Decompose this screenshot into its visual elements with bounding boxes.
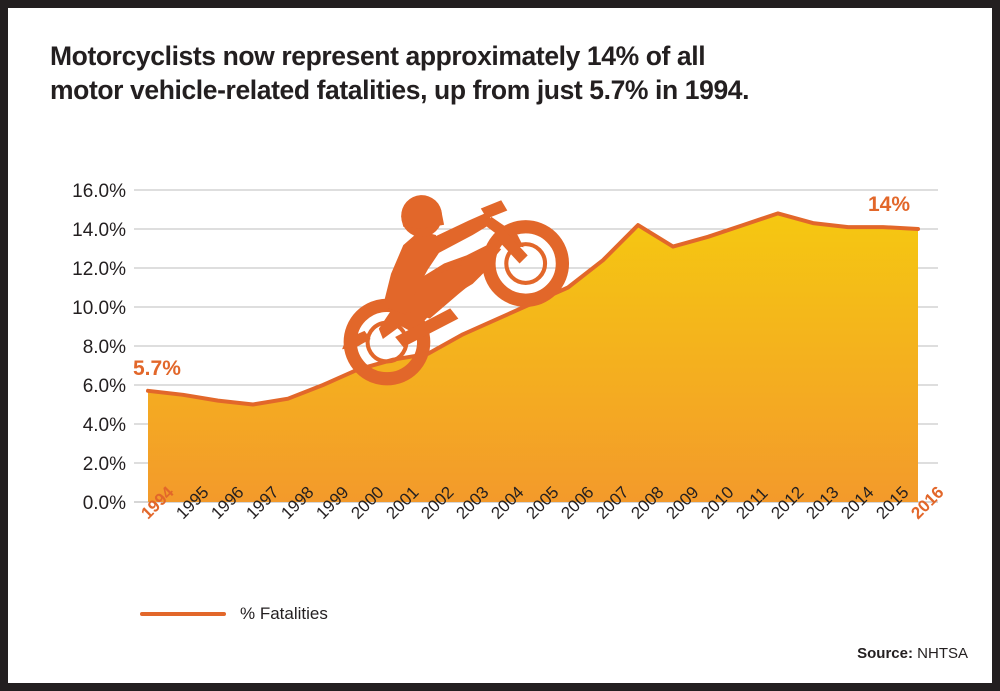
legend-line-swatch — [140, 612, 226, 616]
y-axis-labels: 0.0%2.0%4.0%6.0%8.0%10.0%12.0%14.0%16.0% — [72, 181, 126, 514]
y-axis-tick-label: 8.0% — [83, 337, 126, 358]
area-chart: 0.0%2.0%4.0%6.0%8.0%10.0%12.0%14.0%16.0%… — [8, 158, 992, 528]
source-prefix: Source: — [857, 645, 913, 662]
y-axis-tick-label: 14.0% — [72, 220, 126, 241]
y-axis-tick-label: 4.0% — [83, 415, 126, 436]
y-axis-tick-label: 12.0% — [72, 259, 126, 280]
source-name: NHTSA — [917, 645, 968, 662]
area-fill — [148, 213, 918, 502]
y-axis-tick-label: 0.0% — [83, 493, 126, 514]
source-note: Source: NHTSA — [857, 645, 968, 662]
legend-label: % Fatalities — [240, 604, 328, 624]
y-axis-tick-label: 6.0% — [83, 376, 126, 397]
y-axis-tick-label: 2.0% — [83, 454, 126, 475]
y-axis-tick-label: 10.0% — [72, 298, 126, 319]
page-title: Motorcyclists now represent approximatel… — [50, 40, 950, 108]
title-line-2: motor vehicle-related fatalities, up fro… — [50, 74, 950, 108]
y-axis-tick-label: 16.0% — [72, 181, 126, 202]
chart-legend: % Fatalities — [140, 604, 328, 624]
chart-svg: 0.0%2.0%4.0%6.0%8.0%10.0%12.0%14.0%16.0%… — [8, 158, 992, 528]
end-value-label: 14% — [868, 193, 910, 216]
start-value-label: 5.7% — [133, 357, 181, 380]
title-line-1: Motorcyclists now represent approximatel… — [50, 40, 950, 74]
chart-card: Motorcyclists now represent approximatel… — [8, 8, 992, 683]
